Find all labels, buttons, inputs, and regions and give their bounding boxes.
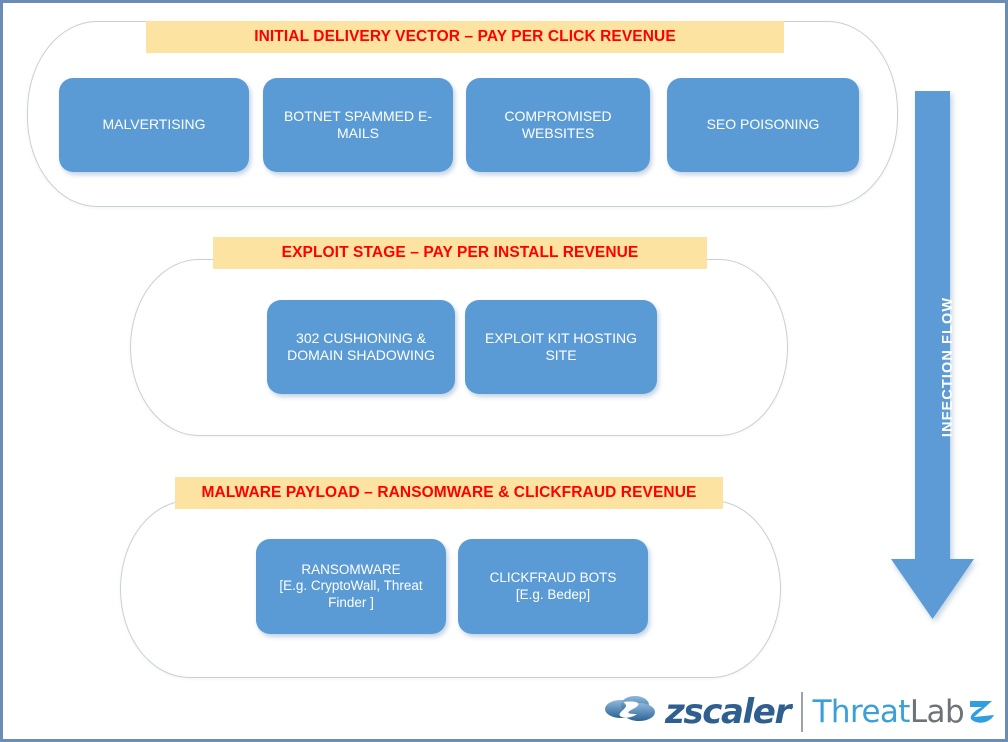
node-label: EXPLOIT KIT HOSTING SITE xyxy=(475,330,647,364)
section-header-malware-payload: MALWARE PAYLOAD – RANSOMWARE & CLICKFRAU… xyxy=(175,477,723,509)
section-header-label: MALWARE PAYLOAD – RANSOMWARE & CLICKFRAU… xyxy=(202,484,697,502)
node-ransomware[interactable]: RANSOMWARE [E.g. CryptoWall, Threat Find… xyxy=(256,539,446,634)
section-header-initial-delivery-vector: INITIAL DELIVERY VECTOR – PAY PER CLICK … xyxy=(146,21,784,53)
cloud-icon xyxy=(603,690,663,735)
node-exploit-kit-hosting-site[interactable]: EXPLOIT KIT HOSTING SITE xyxy=(465,300,657,394)
node-label: MALVERTISING xyxy=(103,116,206,133)
logo-registered-mark: · xyxy=(790,701,793,714)
node-label: RANSOMWARE [E.g. CryptoWall, Threat Find… xyxy=(266,562,436,611)
node-compromised-websites[interactable]: COMPROMISED WEBSITES xyxy=(466,78,650,172)
logo-brand-word: zscaler xyxy=(665,692,790,732)
group-outline-malware-payload xyxy=(120,500,781,678)
logo-product-threat: Threat xyxy=(813,697,910,728)
down-arrow-icon xyxy=(889,91,1007,643)
node-botnet-spammed-emails[interactable]: BOTNET SPAMMED E-MAILS xyxy=(263,78,453,172)
diagram-canvas: INITIAL DELIVERY VECTOR – PAY PER CLICK … xyxy=(0,0,1008,742)
section-header-label: EXPLOIT STAGE – PAY PER INSTALL REVENUE xyxy=(282,244,639,262)
node-label: 302 CUSHIONING & DOMAIN SHADOWING xyxy=(277,330,445,364)
node-label: COMPROMISED WEBSITES xyxy=(476,108,640,142)
node-302-cushioning-domain-shadowing[interactable]: 302 CUSHIONING & DOMAIN SHADOWING xyxy=(267,300,455,394)
infection-flow-arrow: INFECTION FLOW xyxy=(889,91,1007,643)
group-outline-exploit-stage xyxy=(130,259,788,436)
node-malvertising[interactable]: MALVERTISING xyxy=(59,78,249,172)
node-label: SEO POISONING xyxy=(707,116,820,133)
node-label: CLICKFRAUD BOTS [E.g. Bedep] xyxy=(490,570,617,603)
section-header-exploit-stage: EXPLOIT STAGE – PAY PER INSTALL REVENUE xyxy=(213,237,707,269)
section-header-label: INITIAL DELIVERY VECTOR – PAY PER CLICK … xyxy=(254,28,676,46)
node-label: BOTNET SPAMMED E-MAILS xyxy=(273,108,443,142)
logo-divider xyxy=(801,692,803,732)
node-seo-poisoning[interactable]: SEO POISONING xyxy=(667,78,859,172)
zscaler-threatlabz-logo: zscaler· ThreatLab xyxy=(603,686,993,738)
logo-product-z-icon xyxy=(964,693,998,732)
node-clickfraud-bots[interactable]: CLICKFRAUD BOTS [E.g. Bedep] xyxy=(458,539,648,634)
logo-product-lab: Lab xyxy=(910,697,964,728)
logo-brand-text: zscaler· xyxy=(665,695,793,729)
